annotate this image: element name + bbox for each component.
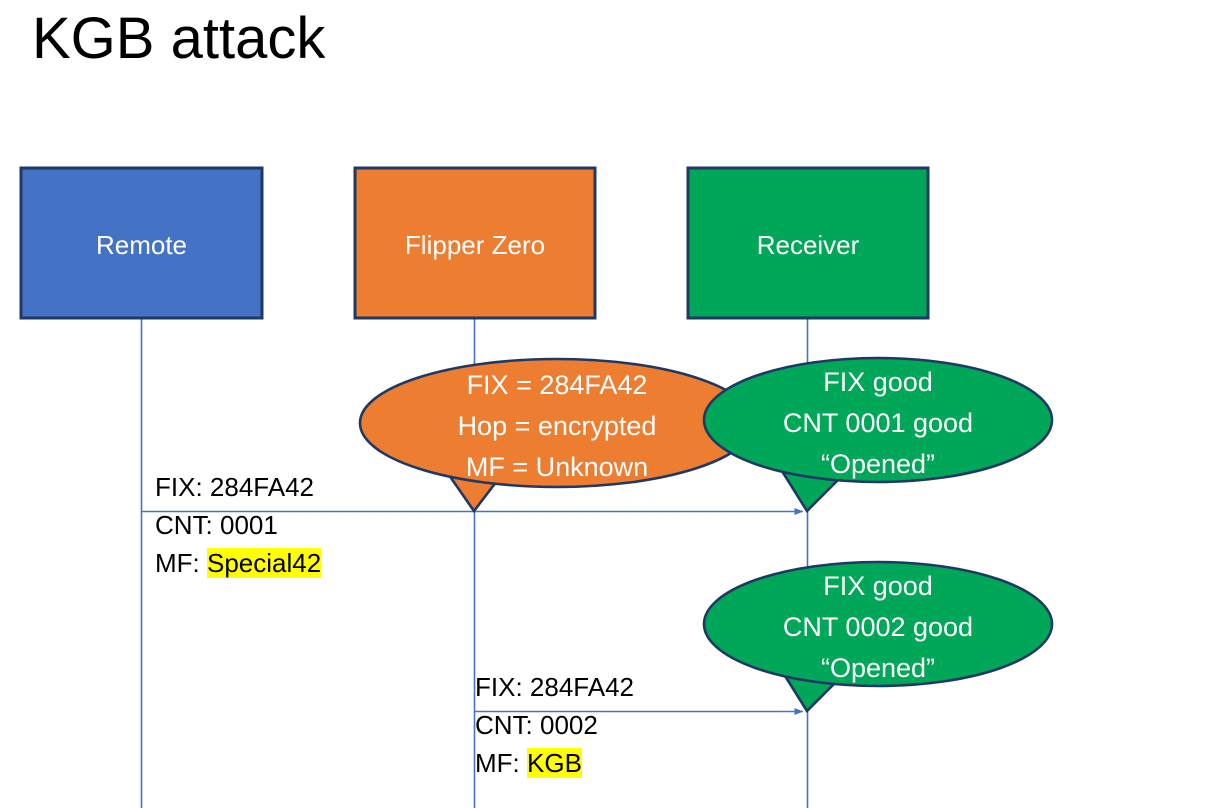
callout-bubbles-layer — [0, 0, 1218, 808]
slide-canvas: KGB attack Remote Flipper Zero Receiver … — [0, 0, 1218, 808]
callout-shape-receiver-first[interactable] — [704, 358, 1052, 511]
callout-shape-receiver-second[interactable] — [704, 562, 1052, 711]
callout-shape-flipper-capture[interactable] — [360, 359, 754, 511]
